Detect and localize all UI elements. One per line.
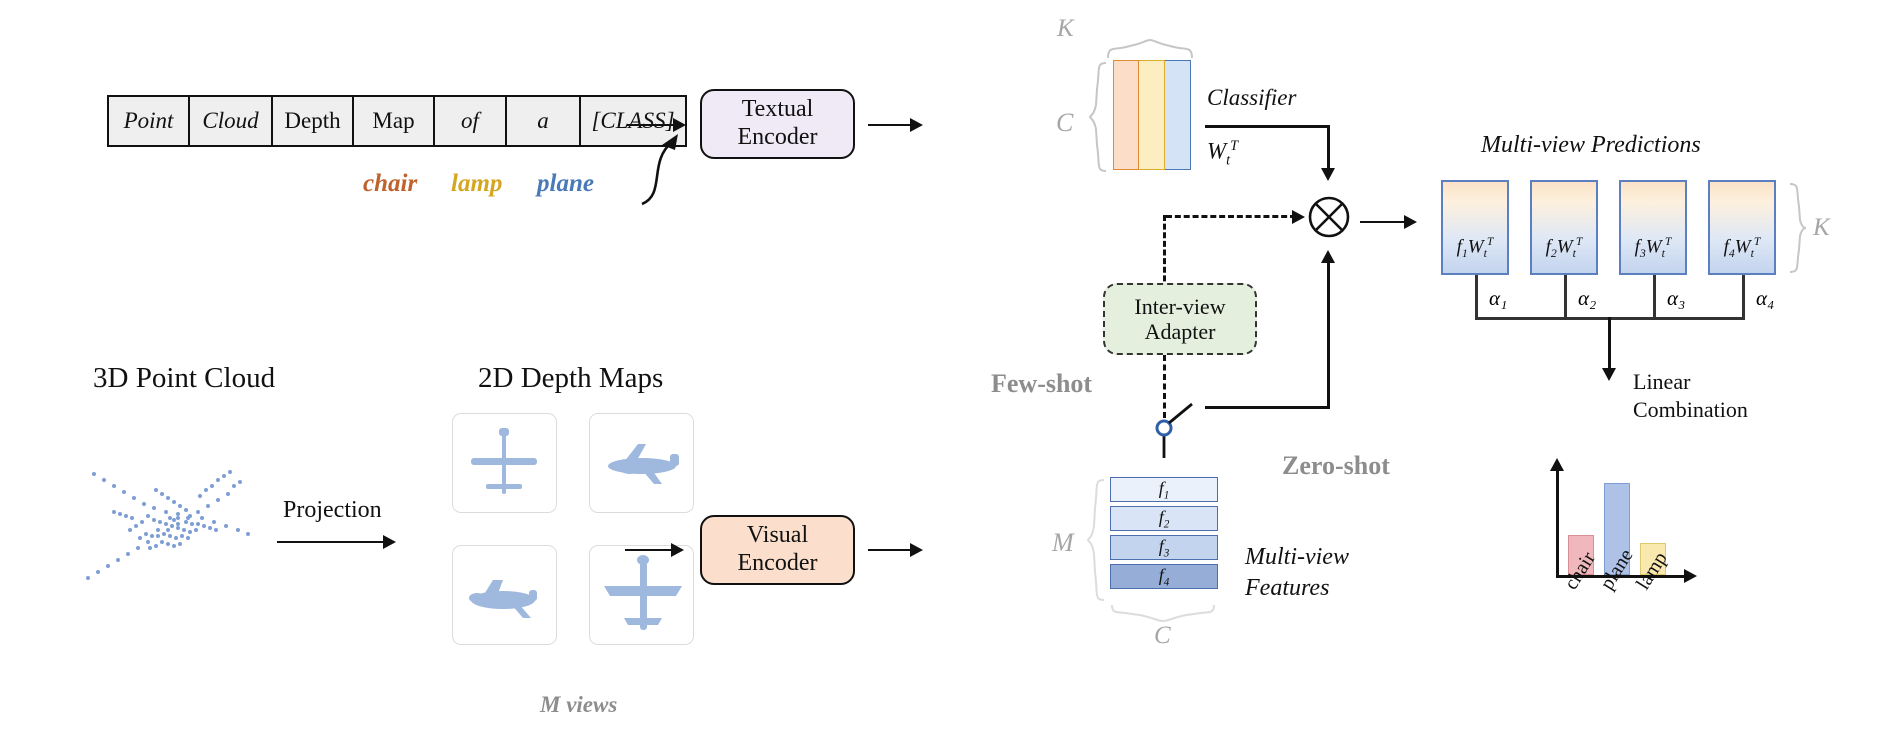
feature-row-3: f3 [1110,535,1218,560]
classifier-label: Classifier [1207,85,1296,111]
prediction-box-2: f2WtT [1530,180,1598,275]
classifier-brace-top-label: K [1057,15,1074,43]
zero-shot-arrowhead-icon [1321,250,1335,263]
adapter-dashed-path [1166,215,1296,218]
arrow-projection [277,535,396,549]
prompt-token-1: Cloud [190,97,273,145]
alpha-stem-1 [1475,275,1478,319]
classifier-elbow-horizontal [1205,125,1329,128]
depth-map-view-4 [589,545,694,645]
visual-encoder-line2: Encoder [738,550,818,578]
adapter-line1: Inter-view [1134,294,1225,319]
inter-view-adapter-box[interactable]: Inter-view Adapter [1103,283,1257,355]
depth-maps-grid [452,413,694,645]
mode-switch-icon[interactable] [1140,400,1210,460]
prompt-token-2: Depth [273,97,354,145]
alpha-label-2: α₂ [1578,286,1596,311]
textual-encoder-box[interactable]: Textual Encoder [700,89,855,159]
depth-map-view-3 [452,545,557,645]
prompt-token-5: a [507,97,581,145]
zero-shot-elbow-vertical [1327,262,1330,409]
classifier-weight-label: WtT [1207,138,1238,169]
prediction-box-1: f1WtT [1441,180,1509,275]
chart-xtick-chair: chair [1560,548,1601,594]
predictions-title: Multi-view Predictions [1481,132,1701,159]
depth-maps-caption: M views [540,692,617,718]
class-word-lamp: lamp [451,170,502,198]
arrow-operator-to-predictions [1360,215,1417,229]
features-brace-bottom-icon [1110,603,1220,623]
adapter-dashed-vertical-up [1163,215,1166,290]
alpha-label-1: α₁ [1489,286,1507,311]
chart-x-axis-arrowhead-icon [1684,569,1697,583]
alpha-stem-3 [1653,275,1656,319]
classifier-elbow-vertical [1327,125,1330,171]
linear-combination-arrowhead-icon [1602,368,1616,381]
adapter-line2: Adapter [1145,319,1216,344]
depth-map-view-2 [589,413,694,513]
visual-encoder-box[interactable]: Visual Encoder [700,515,855,585]
prompt-token-3: Map [354,97,435,145]
prediction-box-3: f3WtT [1619,180,1687,275]
arrow-visual-encoder-to-features [868,543,923,557]
prompt-token-0: Point [109,97,190,145]
alpha-stem-4 [1742,275,1745,319]
depth-maps-title: 2D Depth Maps [478,362,663,395]
linear-combination-stem [1608,317,1611,370]
class-word-plane: plane [537,170,594,198]
predictions-brace-right-label: K [1813,214,1830,242]
features-brace-bottom-label: C [1154,622,1171,650]
classifier-brace-top-icon [1106,38,1196,60]
few-shot-label: Few-shot [991,369,1092,399]
visual-encoder-line1: Visual [747,522,808,550]
linear-combination-label: Linear Combination [1633,368,1748,423]
zero-shot-label: Zero-shot [1282,451,1390,481]
feature-row-2: f2 [1110,506,1218,531]
chart-y-axis-arrowhead-icon [1550,458,1564,471]
depth-map-view-1 [452,413,557,513]
features-brace-left-icon [1086,478,1106,602]
classifier-matrix [1113,60,1191,170]
projection-label: Projection [283,497,382,524]
classifier-column-lamp [1139,60,1165,170]
chart-y-axis [1556,470,1559,578]
point-cloud-visual [70,430,285,595]
textual-encoder-line2: Encoder [738,124,818,152]
classifier-brace-left-icon [1088,61,1108,173]
classifier-elbow-arrowhead-icon [1321,168,1335,181]
classifier-brace-left-label: C [1056,108,1073,138]
chart-xtick-plane: plane [1596,545,1638,594]
textual-encoder-line1: Textual [742,96,814,124]
predictions-brace-right-icon [1788,182,1808,274]
multiply-circle-icon [1305,193,1353,241]
prediction-boxes-group: f1WtT f2WtT f3WtT f4WtT [1441,180,1776,275]
prediction-bar-chart: chair plane lamp [1530,470,1710,600]
arrow-prompt-to-textual-encoder [627,118,686,132]
adapter-dashed-arrowhead-icon [1292,210,1305,224]
alpha-label-3: α₃ [1667,286,1685,311]
prediction-box-4: f4WtT [1708,180,1776,275]
zero-shot-elbow-horizontal [1205,406,1327,409]
alpha-stem-2 [1564,275,1567,319]
point-cloud-title: 3D Point Cloud [93,362,275,395]
feature-row-1: f1 [1110,477,1218,502]
arrow-textual-encoder-to-classifier [868,118,923,132]
classifier-column-plane [1165,60,1191,170]
features-caption: Multi-view Features [1245,542,1349,604]
feature-row-4: f4 [1110,564,1218,589]
class-word-chair: chair [363,170,417,198]
class-insert-arrow-icon [600,128,690,206]
prompt-token-4: of [435,97,507,145]
features-brace-left-label: M [1052,528,1074,558]
alpha-label-4: α₄ [1756,286,1774,311]
arrow-depth-maps-to-visual-encoder [625,543,684,557]
chart-xtick-lamp: lamp [1632,548,1673,594]
multi-view-feature-stack: f1 f2 f3 f4 [1110,477,1218,589]
classifier-column-chair [1113,60,1139,170]
